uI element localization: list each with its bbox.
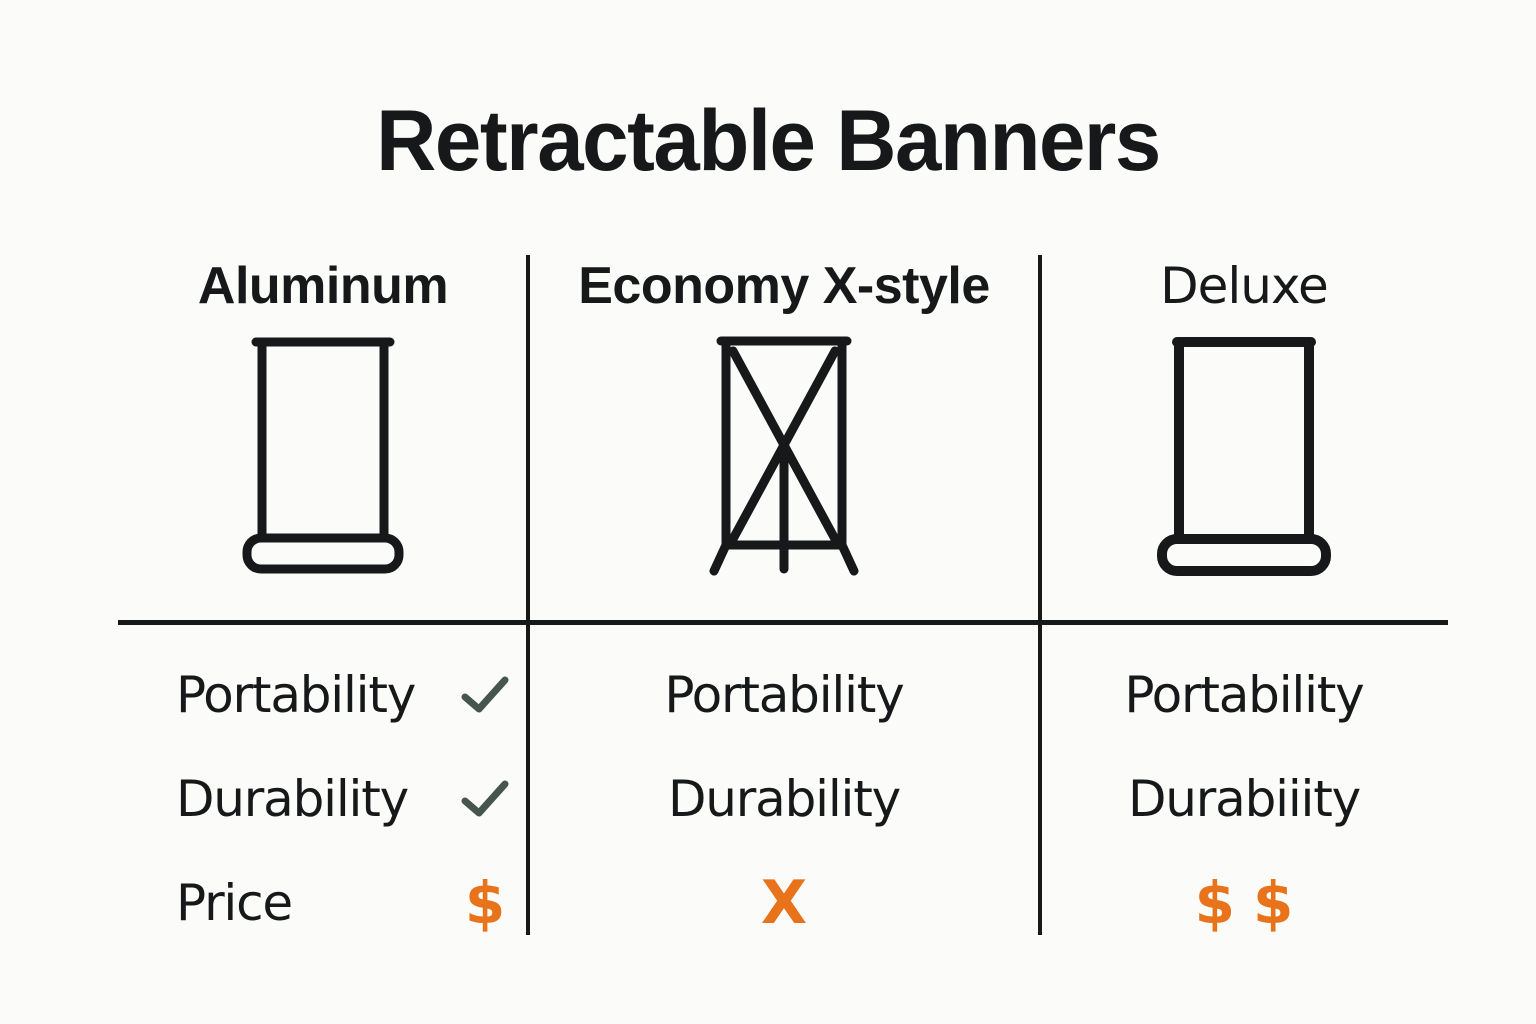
comparison-columns: Aluminum Portability: [118, 255, 1448, 935]
feature-label: Durability: [176, 770, 444, 828]
feature-row-price: Price $: [118, 851, 528, 955]
column-header-deluxe: Deluxe: [1040, 255, 1448, 317]
price-mark: $: [452, 874, 518, 932]
column-aluminum: Aluminum Portability: [118, 255, 528, 935]
check-icon: [452, 779, 518, 819]
dollar-icon: $: [1253, 874, 1293, 932]
retractable-banner-icon: [118, 333, 528, 583]
feature-label: Portability: [1124, 666, 1363, 724]
feature-row: Durability: [528, 747, 1040, 851]
column-divider-1: [526, 255, 530, 935]
deluxe-retractable-banner-icon: [1040, 333, 1448, 583]
feature-row: Portability: [1040, 643, 1448, 747]
feature-list-aluminum: Portability Durability: [118, 643, 528, 955]
column-divider-2: [1038, 255, 1042, 935]
feature-row: Portability: [118, 643, 528, 747]
column-deluxe: Deluxe Portability: [1040, 255, 1448, 935]
feature-label: Portability: [664, 666, 903, 724]
feature-list-deluxe: Portability Durabiiity $ $: [1040, 643, 1448, 955]
feature-label: Durabiiity: [1128, 770, 1360, 828]
feature-row: Durability: [118, 747, 528, 851]
comparison-infographic: Retractable Banners Aluminum: [0, 0, 1536, 1024]
feature-list-economy-x-style: Portability Durability X: [528, 643, 1040, 955]
column-economy-x-style: Economy X-style: [528, 255, 1040, 935]
feature-row: Portability: [528, 643, 1040, 747]
feature-row-price: X: [528, 851, 1040, 955]
section-divider: [118, 620, 1448, 625]
feature-row: Durabiiity: [1040, 747, 1448, 851]
column-header-economy-x-style: Economy X-style: [528, 255, 1040, 317]
page-title: Retractable Banners: [23, 98, 1513, 184]
price-mark: $ $: [1195, 874, 1294, 932]
x-frame-banner-icon: [528, 333, 1040, 583]
x-mark-icon: X: [761, 873, 807, 933]
feature-label-price: Price: [176, 874, 444, 932]
dollar-icon: $: [1195, 874, 1235, 932]
check-icon: [452, 675, 518, 715]
dollar-icon: $: [465, 874, 505, 932]
feature-row-price: $ $: [1040, 851, 1448, 955]
feature-label: Durability: [668, 770, 900, 828]
feature-label: Portability: [176, 666, 444, 724]
comparison-grid: Aluminum Portability: [118, 255, 1448, 935]
column-header-aluminum: Aluminum: [118, 255, 528, 317]
